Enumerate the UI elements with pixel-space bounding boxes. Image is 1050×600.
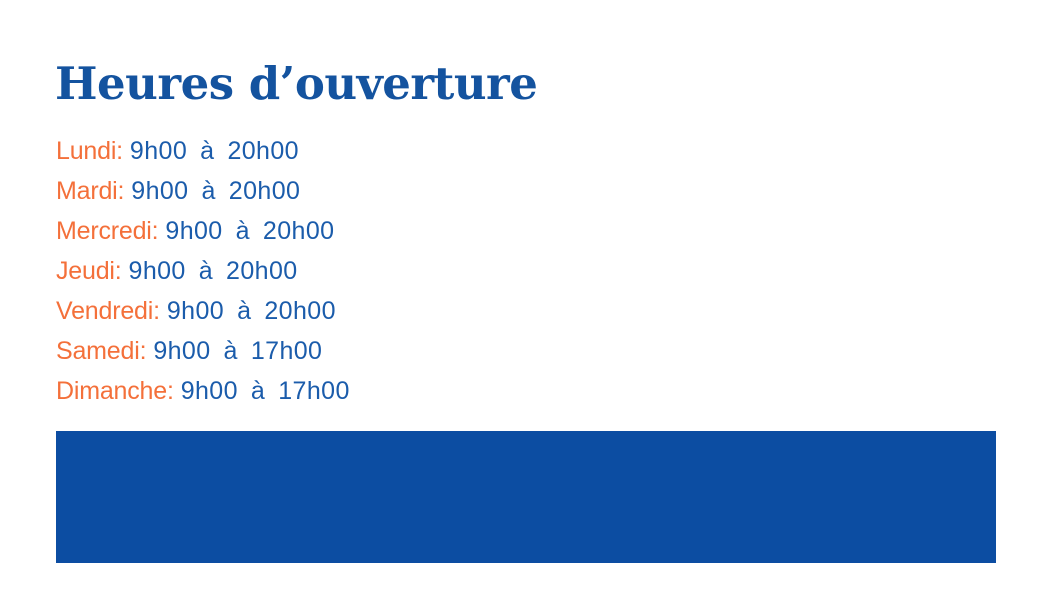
list-item: Lundi:9h00à20h00 [56,131,936,171]
day-open-time: 9h00 [129,257,186,285]
day-label: Jeudi: [56,257,122,285]
day-open-time: 9h00 [131,177,188,205]
day-open-time: 9h00 [165,217,222,245]
list-item: Mardi:9h00à20h00 [56,171,936,211]
day-open-time: 9h00 [181,377,238,405]
list-item: Vendredi:9h00à20h00 [56,291,936,331]
day-label: Mercredi: [56,217,158,245]
slide-canvas: Heures d’ouverture Lundi:9h00à20h00 Mard… [0,0,1050,600]
day-close-time: 20h00 [229,177,301,205]
day-close-time: 20h00 [264,297,336,325]
opening-hours-list: Lundi:9h00à20h00 Mardi:9h00à20h00 Mercre… [56,131,936,411]
day-close-time: 17h00 [251,337,323,365]
day-open-time: 9h00 [167,297,224,325]
list-item: Samedi:9h00à17h00 [56,331,936,371]
page-title: Heures d’ouverture [55,58,537,110]
time-separator: à [245,371,271,411]
day-label: Vendredi: [56,297,160,325]
day-open-time: 9h00 [153,337,210,365]
time-separator: à [194,131,220,171]
day-close-time: 20h00 [227,137,299,165]
time-separator: à [231,291,257,331]
time-separator: à [193,251,219,291]
time-separator: à [230,211,256,251]
day-open-time: 9h00 [130,137,187,165]
day-label: Samedi: [56,337,146,365]
bottom-banner [56,431,996,563]
list-item: Mercredi:9h00à20h00 [56,211,936,251]
day-close-time: 20h00 [226,257,298,285]
day-label: Lundi: [56,137,123,165]
list-item: Dimanche:9h00à17h00 [56,371,936,411]
day-label: Mardi: [56,177,124,205]
time-separator: à [195,171,221,211]
day-close-time: 20h00 [263,217,335,245]
day-label: Dimanche: [56,377,174,405]
time-separator: à [218,331,244,371]
day-close-time: 17h00 [278,377,350,405]
list-item: Jeudi:9h00à20h00 [56,251,936,291]
